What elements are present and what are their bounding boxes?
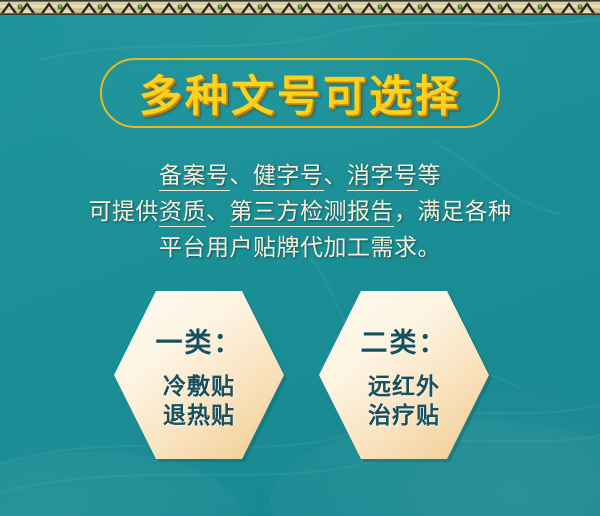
description-line-3: 平台用户贴牌代加工需求。 (0, 230, 600, 266)
description-line-2: 可提供资质、第三方检测报告，满足各种 (0, 194, 600, 230)
category-card-1-item-2: 退热贴 (163, 401, 235, 430)
page-title: 多种文号可选择 (100, 58, 500, 128)
description-segment-2-3: 、 (206, 199, 230, 225)
category-card-2-heading: 二类： (361, 321, 448, 360)
description-segment-2-1: 可提供 (89, 199, 160, 225)
category-card-1-item-1: 冷敷贴 (163, 372, 235, 401)
category-card-2-item-2: 治疗贴 (368, 401, 440, 430)
category-card-2[interactable]: 二类： 远红外 治疗贴 (317, 289, 491, 461)
description-segment-3-1: 平台用户贴牌代加工需求。 (159, 235, 441, 261)
border-pattern-svg (0, 0, 600, 15)
description-paragraph: 备案号、健字号、消字号等可提供资质、第三方检测报告，满足各种平台用户贴牌代加工需… (0, 158, 600, 266)
greek-chevron-border (0, 0, 600, 15)
description-segment-1-3: 健字号 (253, 163, 324, 191)
description-segment-1-2: 、 (230, 163, 254, 189)
poster-canvas: 多种文号可选择 备案号、健字号、消字号等可提供资质、第三方检测报告，满足各种平台… (0, 0, 600, 516)
description-segment-1-6: 等 (418, 163, 442, 189)
description-segment-1-4: 、 (324, 163, 348, 189)
category-card-1[interactable]: 一类： 冷敷贴 退热贴 (112, 289, 286, 461)
category-card-2-content: 二类： 远红外 治疗贴 (317, 289, 491, 461)
category-card-1-content: 一类： 冷敷贴 退热贴 (112, 289, 286, 461)
description-segment-2-5: ，满足各种 (394, 199, 512, 225)
category-card-2-item-1: 远红外 (368, 372, 440, 401)
category-card-1-heading: 一类： (156, 321, 243, 360)
description-segment-2-2: 资质 (159, 199, 206, 227)
description-line-1: 备案号、健字号、消字号等 (0, 158, 600, 194)
description-segment-1-5: 消字号 (347, 163, 418, 191)
description-segment-2-4: 第三方检测报告 (230, 199, 395, 227)
description-segment-1-1: 备案号 (159, 163, 230, 191)
